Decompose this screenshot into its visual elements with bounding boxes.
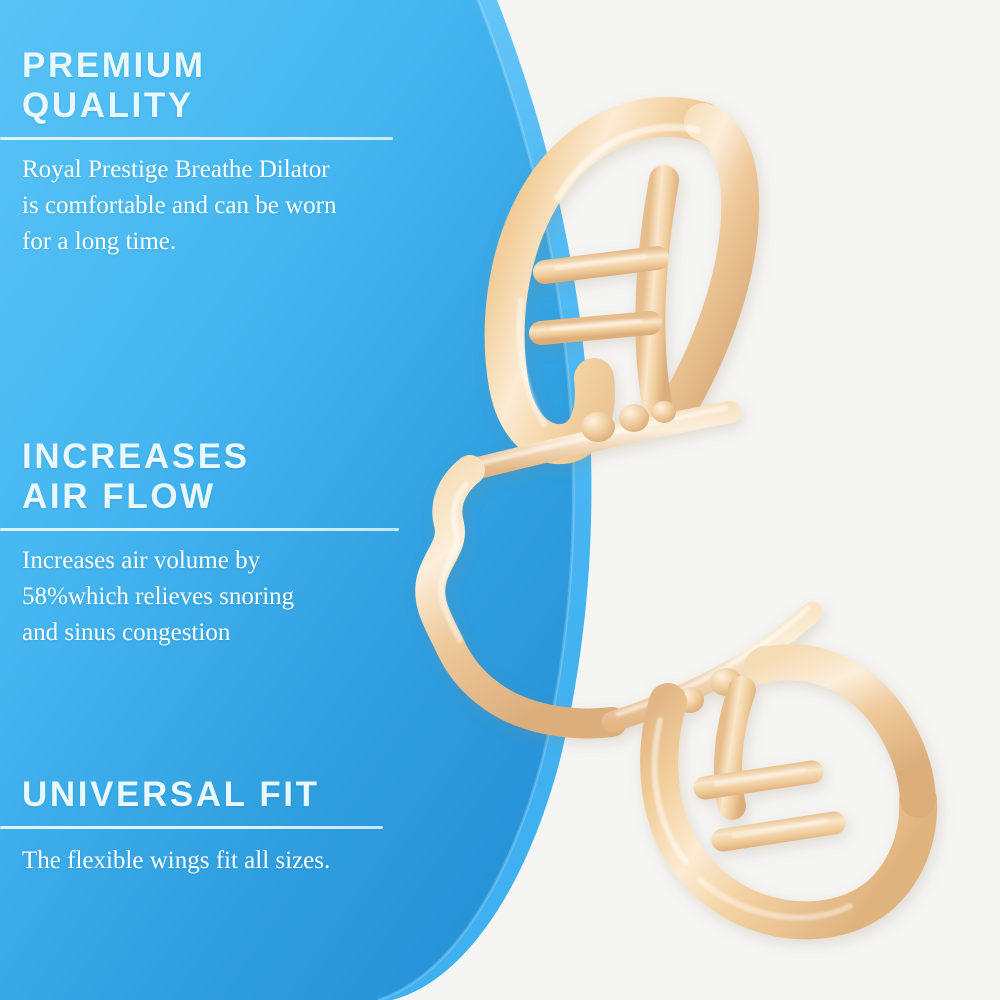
upper-wing — [505, 117, 740, 444]
feature-universal-fit: UNIVERSAL FIT The flexible wings fit all… — [22, 775, 442, 879]
feature-heading: UNIVERSAL FIT — [22, 775, 442, 815]
feature-increases-air-flow: INCREASES AIR FLOW Increases air volume … — [22, 437, 442, 651]
feature-body: Royal Prestige Breathe Dilator is comfor… — [22, 152, 442, 260]
feature-heading: INCREASES AIR FLOW — [22, 437, 442, 517]
feature-body: The flexible wings fit all sizes. — [22, 843, 442, 879]
feature-heading: PREMIUM QUALITY — [22, 46, 442, 126]
heading-divider — [0, 137, 393, 140]
feature-premium-quality: PREMIUM QUALITY Royal Prestige Breathe D… — [22, 46, 442, 260]
infographic-canvas: PREMIUM QUALITY Royal Prestige Breathe D… — [0, 0, 1000, 1000]
heading-divider — [0, 826, 383, 829]
feature-body: Increases air volume by 58%which relieve… — [22, 543, 442, 651]
bead — [652, 401, 676, 423]
feature-list: PREMIUM QUALITY Royal Prestige Breathe D… — [0, 0, 470, 1000]
bead — [581, 412, 615, 442]
heading-divider — [0, 528, 399, 531]
bead — [619, 404, 649, 432]
